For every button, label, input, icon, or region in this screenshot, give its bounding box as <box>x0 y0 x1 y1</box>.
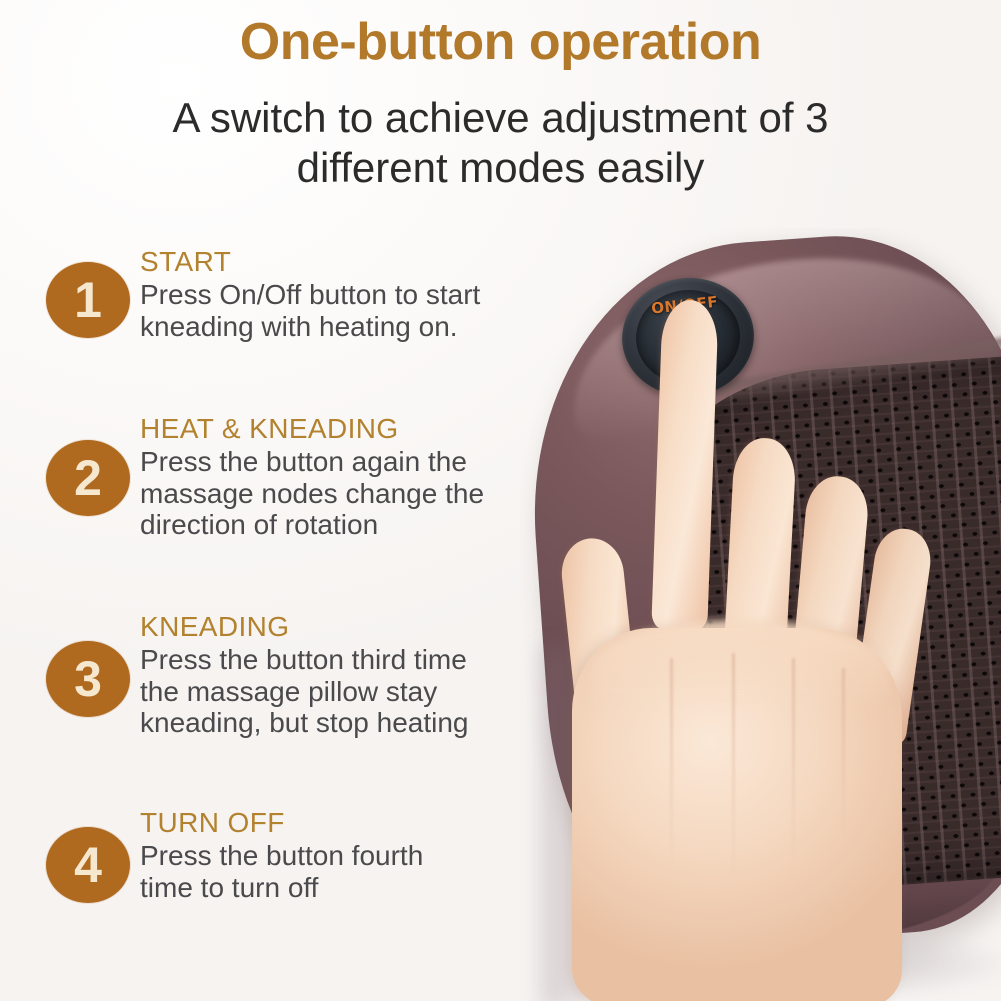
subtitle-line-2: different modes easily <box>120 143 881 193</box>
step-4-line-1: Press the button fourth <box>140 840 512 871</box>
step-3-line-1: Press the button third time <box>140 644 512 675</box>
hand-tendon-3 <box>792 658 795 868</box>
hand-tendon-1 <box>670 658 673 868</box>
subtitle-line-1: A switch to achieve adjustment of 3 <box>172 94 828 141</box>
page-subtitle: A switch to achieve adjustment of 3 diff… <box>120 93 881 192</box>
hand-tendon-2 <box>732 653 735 883</box>
step-body-2: HEAT & KNEADING Press the button again t… <box>140 413 520 540</box>
step-2-line-3: direction of rotation <box>140 509 512 540</box>
step-3-line-2: the massage pillow stay <box>140 676 512 707</box>
step-description-2: Press the button again the massage nodes… <box>140 446 512 540</box>
step-item-1: 1 START Press On/Off button to start kne… <box>0 246 520 342</box>
step-body-4: TURN OFF Press the button fourth time to… <box>140 807 520 903</box>
step-2-line-2: massage nodes change the <box>140 478 512 509</box>
step-2-line-1: Press the button again the <box>140 446 512 477</box>
index-finger-pressing-button <box>651 299 718 631</box>
step-heading-3: KNEADING <box>140 611 512 642</box>
page-title: One-button operation <box>0 14 1001 70</box>
step-item-4: 4 TURN OFF Press the button fourth time … <box>0 807 520 903</box>
step-heading-4: TURN OFF <box>140 807 512 838</box>
hand-tendon-4 <box>842 668 845 838</box>
step-description-4: Press the button fourth time to turn off <box>140 840 512 903</box>
step-heading-1: START <box>140 246 512 277</box>
step-heading-2: HEAT & KNEADING <box>140 413 512 444</box>
step-number-badge-3: 3 <box>46 641 130 717</box>
step-item-2: 2 HEAT & KNEADING Press the button again… <box>0 413 520 540</box>
step-1-line-2: kneading with heating on. <box>140 311 512 342</box>
step-1-line-1: Press On/Off button to start <box>140 279 512 310</box>
step-number-badge-2: 2 <box>46 440 130 516</box>
step-number-badge-4: 4 <box>46 827 130 903</box>
step-number-badge-1: 1 <box>46 262 130 338</box>
step-body-1: START Press On/Off button to start knead… <box>140 246 520 342</box>
step-3-line-3: kneading, but stop heating <box>140 707 512 738</box>
step-description-3: Press the button third time the massage … <box>140 644 512 738</box>
step-description-1: Press On/Off button to start kneading wi… <box>140 279 512 342</box>
step-4-line-2: time to turn off <box>140 872 512 903</box>
step-item-3: 3 KNEADING Press the button third time t… <box>0 611 520 738</box>
step-body-3: KNEADING Press the button third time the… <box>140 611 520 738</box>
infographic-canvas: One-button operation A switch to achieve… <box>0 0 1001 1001</box>
hand-illustration <box>520 228 1001 1001</box>
product-photo: ON/OFF <box>520 228 1001 1001</box>
